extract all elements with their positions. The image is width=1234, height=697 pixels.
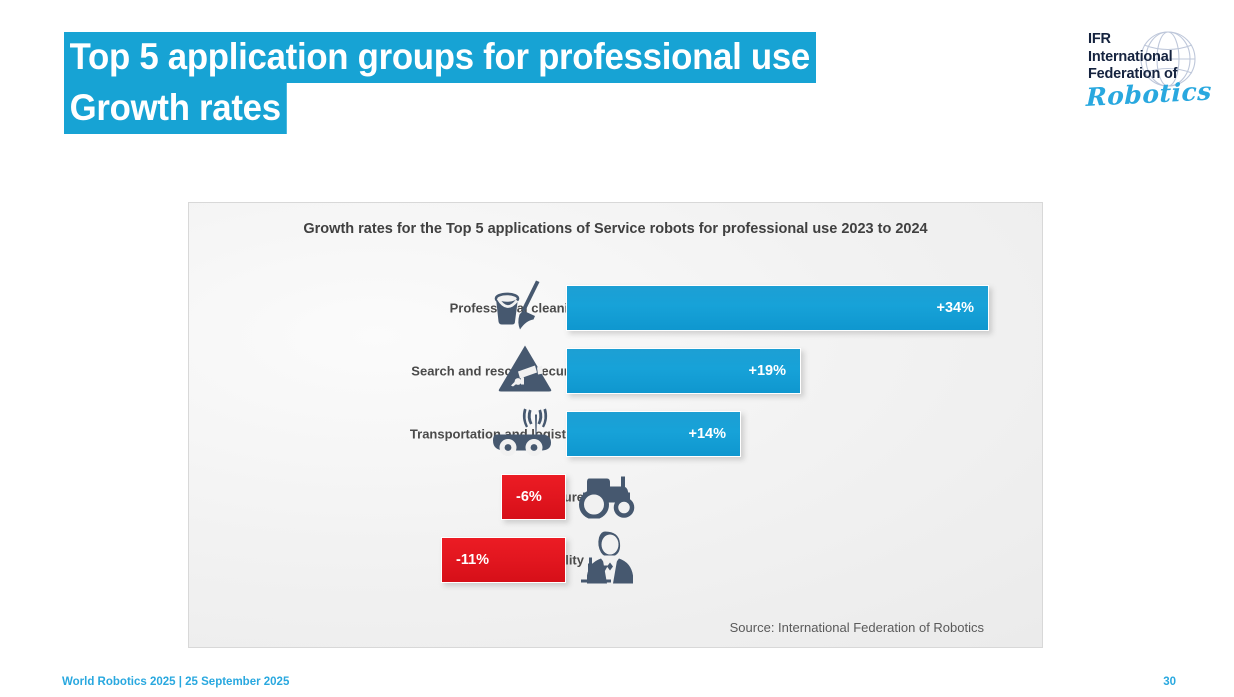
ifr-logo-text: IFR International Federation of: [1088, 31, 1177, 84]
tractor-icon: [577, 471, 639, 524]
bucket-and-broom-icon: [492, 281, 554, 336]
page-title: Top 5 application groups for professiona…: [64, 32, 1004, 134]
page-title-line-2: Growth rates: [64, 83, 286, 134]
bar-transportation-and-logistics: +14%: [566, 411, 741, 457]
bar-hospitality: -11%: [441, 537, 566, 583]
bar-agriculture: -6%: [501, 474, 566, 520]
bar-value-label: +14%: [689, 426, 727, 442]
footer-text: World Robotics 2025 | 25 September 2025: [62, 676, 289, 688]
bar-value-label: +34%: [937, 300, 975, 316]
table-row: Agriculture -6%: [189, 466, 1042, 528]
chart-plot-area: Professional cleaning +34% Search and re…: [189, 273, 1042, 603]
ifr-logo: IFR International Federation of Robotics: [1080, 28, 1212, 116]
page-title-line-1: Top 5 application groups for professiona…: [64, 32, 816, 83]
bar-professional-cleaning: +34%: [566, 285, 989, 331]
table-row: Transportation and logistics +14%: [189, 403, 1042, 465]
chart-title: Growth rates for the Top 5 applications …: [259, 219, 972, 240]
chart-panel: Growth rates for the Top 5 applications …: [188, 202, 1043, 648]
bar-value-label: +19%: [749, 363, 787, 379]
security-camera-warning-icon: [497, 344, 553, 399]
page-number: 30: [1163, 676, 1176, 688]
bar-value-label: -11%: [456, 552, 489, 568]
table-row: Search and rescue, security +19%: [189, 340, 1042, 402]
waiter-icon: [579, 530, 641, 591]
agv-rover-icon: [489, 407, 559, 462]
logo-line-2: International: [1088, 49, 1177, 67]
bar-value-label: -6%: [516, 489, 542, 505]
chart-source-note: Source: International Federation of Robo…: [730, 620, 984, 635]
table-row: Hospitality -11%: [189, 529, 1042, 591]
logo-script-robotics: Robotics: [1086, 76, 1212, 112]
logo-line-1: IFR: [1088, 31, 1177, 49]
table-row: Professional cleaning +34%: [189, 277, 1042, 339]
bar-search-and-rescue-security: +19%: [566, 348, 801, 394]
